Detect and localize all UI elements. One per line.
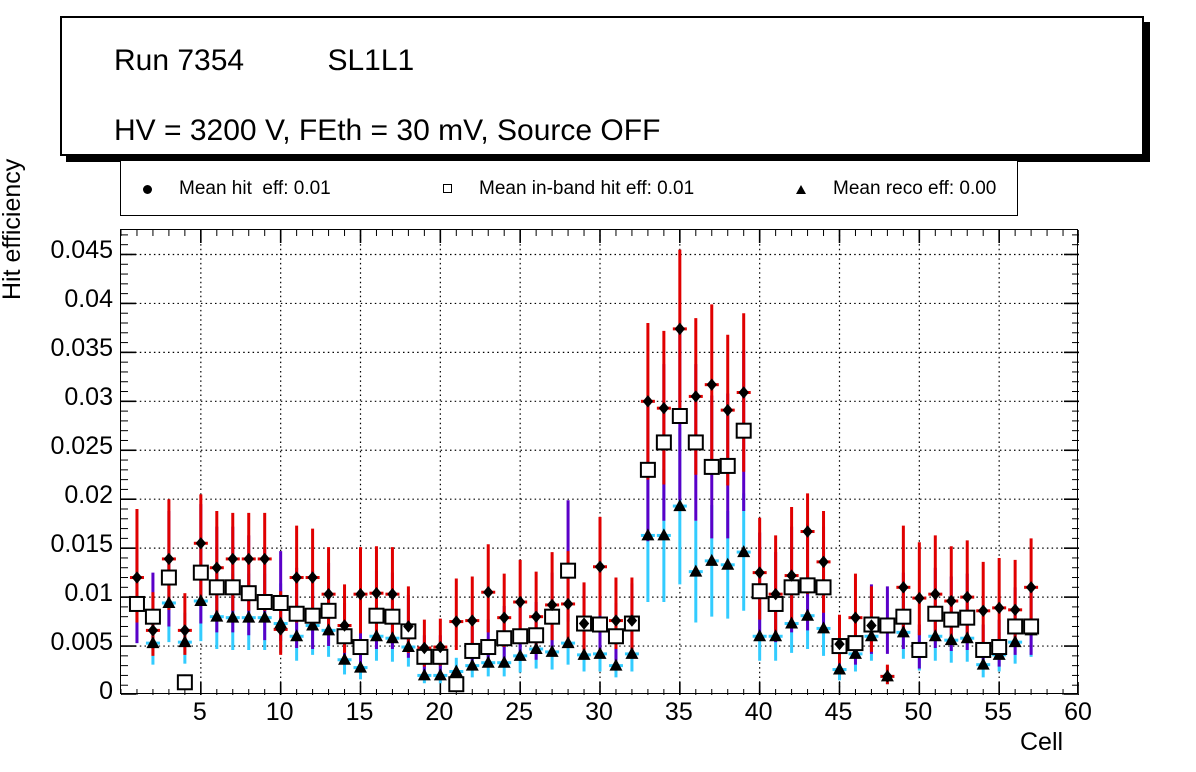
data-point-open-square bbox=[449, 677, 463, 691]
x-tick-label: 25 bbox=[489, 698, 549, 727]
data-point-open-square bbox=[593, 618, 607, 632]
data-point-open-square bbox=[290, 607, 304, 621]
data-point-open-square bbox=[609, 629, 623, 643]
data-point-open-square bbox=[705, 460, 719, 474]
data-point-open-square bbox=[801, 578, 815, 592]
error-bar bbox=[976, 562, 990, 643]
data-point-filled-circle bbox=[723, 404, 733, 416]
data-series-layer bbox=[130, 250, 1038, 692]
title-box: Run 7354 SL1L1 HV = 3200 V, FEth = 30 mV… bbox=[60, 16, 1144, 156]
x-tick-label: 30 bbox=[569, 698, 629, 727]
data-point-filled-circle bbox=[739, 386, 749, 398]
data-point-open-square bbox=[194, 566, 208, 580]
data-point-open-square bbox=[944, 613, 958, 627]
data-point-filled-circle bbox=[659, 402, 669, 414]
plot-frame bbox=[120, 229, 1078, 694]
data-point-filled-circle bbox=[467, 614, 477, 626]
y-tick-label: 0.005 bbox=[0, 628, 113, 657]
data-point-open-square bbox=[721, 459, 735, 473]
y-tick-label: 0.045 bbox=[0, 236, 113, 265]
data-point-filled-circle bbox=[675, 323, 685, 335]
data-point-filled-circle bbox=[228, 553, 238, 565]
x-tick-label: 45 bbox=[809, 698, 869, 727]
data-point-filled-circle bbox=[212, 562, 222, 574]
data-point-open-square bbox=[689, 435, 703, 449]
error-bar bbox=[992, 558, 1006, 641]
data-point-open-square bbox=[657, 435, 671, 449]
error-bar bbox=[625, 578, 639, 649]
x-tick-label: 20 bbox=[409, 698, 469, 727]
data-point-open-square bbox=[817, 580, 831, 594]
data-point-filled-circle bbox=[930, 588, 940, 600]
data-point-filled-circle bbox=[962, 591, 972, 603]
data-point-filled-circle bbox=[595, 561, 605, 573]
data-point-open-square bbox=[912, 643, 926, 657]
data-point-open-square bbox=[1008, 619, 1022, 633]
y-axis-label: Hit efficiency bbox=[0, 159, 27, 300]
legend-label-inband-hit-eff: Mean in-band hit eff: 0.01 bbox=[479, 178, 694, 200]
data-point-filled-circle bbox=[611, 614, 621, 626]
data-point-filled-circle bbox=[180, 624, 190, 636]
conditions-title-line: HV = 3200 V, FEth = 30 mV, Source OFF bbox=[114, 114, 660, 148]
x-tick-label: 40 bbox=[729, 698, 789, 727]
data-point-filled-circle bbox=[818, 556, 828, 568]
x-tick-label: 60 bbox=[1048, 698, 1108, 727]
data-point-filled-circle bbox=[355, 588, 365, 600]
data-point-open-square bbox=[306, 609, 320, 623]
y-tick-label: 0.03 bbox=[0, 383, 113, 412]
data-point-open-square bbox=[561, 564, 575, 578]
data-point-filled-circle bbox=[850, 611, 860, 623]
data-point-filled-circle bbox=[1010, 604, 1020, 616]
data-point-open-square bbox=[513, 629, 527, 643]
x-tick-label: 5 bbox=[170, 698, 230, 727]
data-point-open-square bbox=[880, 618, 894, 632]
data-point-open-square bbox=[385, 610, 399, 624]
error-bar bbox=[449, 579, 463, 650]
data-point-filled-circle bbox=[754, 566, 764, 578]
data-point-filled-circle bbox=[563, 598, 573, 610]
run-title-line: Run 7354 SL1L1 bbox=[114, 44, 414, 78]
x-tick-label: 15 bbox=[330, 698, 390, 727]
data-point-open-square bbox=[529, 628, 543, 642]
legend: Mean hit eff: 0.01 Mean in-band hit eff:… bbox=[120, 160, 1018, 216]
data-point-open-square bbox=[354, 640, 368, 654]
data-point-open-square bbox=[146, 610, 160, 624]
x-tick-label: 35 bbox=[649, 698, 709, 727]
data-point-open-square bbox=[322, 604, 336, 618]
data-point-open-square bbox=[848, 636, 862, 650]
data-point-filled-circle bbox=[164, 553, 174, 565]
data-point-filled-circle bbox=[244, 553, 254, 565]
data-point-open-square bbox=[785, 580, 799, 594]
error-bar bbox=[769, 535, 783, 633]
data-point-filled-circle bbox=[978, 605, 988, 617]
data-point-open-square bbox=[545, 610, 559, 624]
data-point-filled-circle bbox=[291, 571, 301, 583]
data-point-filled-circle bbox=[483, 586, 493, 598]
data-point-open-square bbox=[976, 643, 990, 657]
y-tick-label: 0.02 bbox=[0, 481, 113, 510]
data-point-open-square bbox=[1024, 619, 1038, 633]
x-tick-label: 10 bbox=[250, 698, 310, 727]
data-point-open-square bbox=[928, 607, 942, 621]
data-point-open-square bbox=[226, 580, 240, 594]
data-point-open-square bbox=[481, 640, 495, 654]
chart-page: Run 7354 SL1L1 HV = 3200 V, FEth = 30 mV… bbox=[0, 0, 1196, 772]
data-point-open-square bbox=[673, 409, 687, 423]
data-point-open-square bbox=[258, 595, 272, 609]
data-point-filled-circle bbox=[898, 581, 908, 593]
data-point-open-square bbox=[896, 610, 910, 624]
y-tick-label: 0 bbox=[0, 677, 113, 706]
data-point-open-square bbox=[737, 424, 751, 438]
data-point-filled-circle bbox=[260, 553, 270, 565]
data-point-filled-circle bbox=[387, 588, 397, 600]
y-tick-label: 0.025 bbox=[0, 432, 113, 461]
data-point-filled-circle bbox=[994, 602, 1004, 614]
legend-label-hit-eff: Mean hit eff: 0.01 bbox=[179, 178, 331, 200]
plot-canvas bbox=[121, 230, 1079, 695]
data-point-open-square bbox=[641, 463, 655, 477]
data-point-open-square bbox=[960, 611, 974, 625]
data-point-open-square bbox=[130, 597, 144, 611]
data-point-open-square bbox=[753, 584, 767, 598]
error-bar bbox=[785, 507, 799, 622]
data-point-open-square bbox=[369, 609, 383, 623]
data-point-open-square bbox=[274, 596, 288, 610]
data-point-filled-circle bbox=[307, 571, 317, 583]
data-point-filled-circle bbox=[643, 395, 653, 407]
error-bar bbox=[912, 542, 926, 635]
data-point-filled-circle bbox=[323, 588, 333, 600]
y-tick-label: 0.035 bbox=[0, 334, 113, 363]
error-bar bbox=[545, 552, 559, 640]
data-point-open-square bbox=[162, 571, 176, 585]
y-tick-label: 0.04 bbox=[0, 285, 113, 314]
data-point-open-square bbox=[497, 631, 511, 645]
data-point-filled-circle bbox=[802, 525, 812, 537]
y-tick-label: 0.015 bbox=[0, 530, 113, 559]
filled-circle-icon bbox=[139, 180, 157, 198]
data-point-open-square bbox=[242, 586, 256, 600]
data-point-filled-circle bbox=[1026, 581, 1036, 593]
data-point-filled-circle bbox=[914, 592, 924, 604]
data-point-filled-circle bbox=[946, 595, 956, 607]
legend-label-reco-eff: Mean reco eff: 0.00 bbox=[833, 178, 996, 200]
x-axis-label: Cell bbox=[1020, 728, 1063, 757]
data-point-open-square bbox=[178, 675, 192, 689]
data-point-open-square bbox=[992, 640, 1006, 654]
data-point-filled-circle bbox=[451, 615, 461, 627]
data-point-filled-circle bbox=[531, 610, 541, 622]
data-point-filled-circle bbox=[148, 624, 158, 636]
filled-triangle-icon bbox=[793, 180, 811, 198]
x-tick-label: 55 bbox=[968, 698, 1028, 727]
open-square-icon bbox=[439, 180, 457, 198]
x-tick-label: 50 bbox=[888, 698, 948, 727]
data-point-filled-circle bbox=[132, 571, 142, 583]
error-bar bbox=[465, 577, 479, 650]
data-point-filled-circle bbox=[499, 611, 509, 623]
y-tick-label: 0.01 bbox=[0, 579, 113, 608]
data-point-open-square bbox=[465, 644, 479, 658]
data-point-filled-circle bbox=[707, 378, 717, 390]
data-point-open-square bbox=[210, 580, 224, 594]
